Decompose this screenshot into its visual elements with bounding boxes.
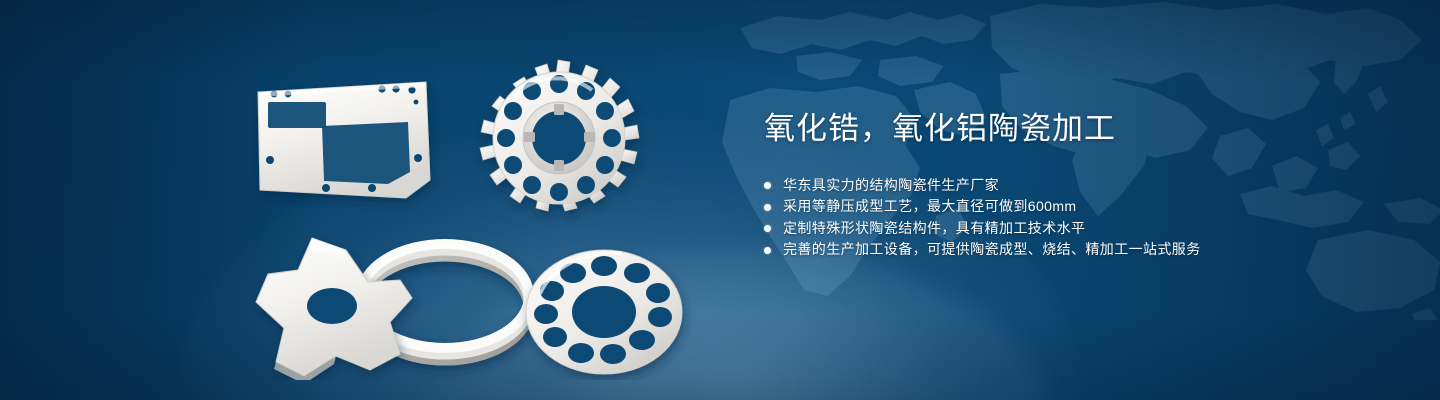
bullet-dot-icon [764, 247, 771, 254]
feature-text: 完善的生产加工设备，可提供陶瓷成型、烧结、精加工一站式服务 [783, 239, 1201, 261]
bullet-dot-icon [764, 204, 771, 211]
banner-text-column: 氧化锆，氧化铝陶瓷加工 华东具实力的结构陶瓷件生产厂家 采用等静压成型工艺，最大… [764, 110, 1384, 261]
ceramic-plate-with-cutouts [258, 82, 430, 198]
product-photo-cluster [230, 40, 710, 380]
feature-text: 华东具实力的结构陶瓷件生产厂家 [783, 175, 999, 197]
feature-text: 定制特殊形状陶瓷结构件，具有精加工技术水平 [783, 218, 1085, 240]
list-item: 定制特殊形状陶瓷结构件，具有精加工技术水平 [764, 218, 1384, 240]
bullet-dot-icon [764, 225, 771, 232]
list-item: 完善的生产加工设备，可提供陶瓷成型、烧结、精加工一站式服务 [764, 239, 1384, 261]
ceramic-impeller-disc [480, 60, 639, 211]
bullet-dot-icon [764, 182, 771, 189]
hero-banner: 氧化锆，氧化铝陶瓷加工 华东具实力的结构陶瓷件生产厂家 采用等静压成型工艺，最大… [0, 0, 1440, 400]
list-item: 华东具实力的结构陶瓷件生产厂家 [764, 175, 1384, 197]
feature-text: 采用等静压成型工艺，最大直径可做到600mm [783, 196, 1076, 218]
page-title: 氧化锆，氧化铝陶瓷加工 [764, 110, 1384, 149]
feature-list: 华东具实力的结构陶瓷件生产厂家 采用等静压成型工艺，最大直径可做到600mm 定… [764, 175, 1384, 261]
list-item: 采用等静压成型工艺，最大直径可做到600mm [764, 196, 1384, 218]
ceramic-perforated-ring-disc [526, 250, 682, 374]
